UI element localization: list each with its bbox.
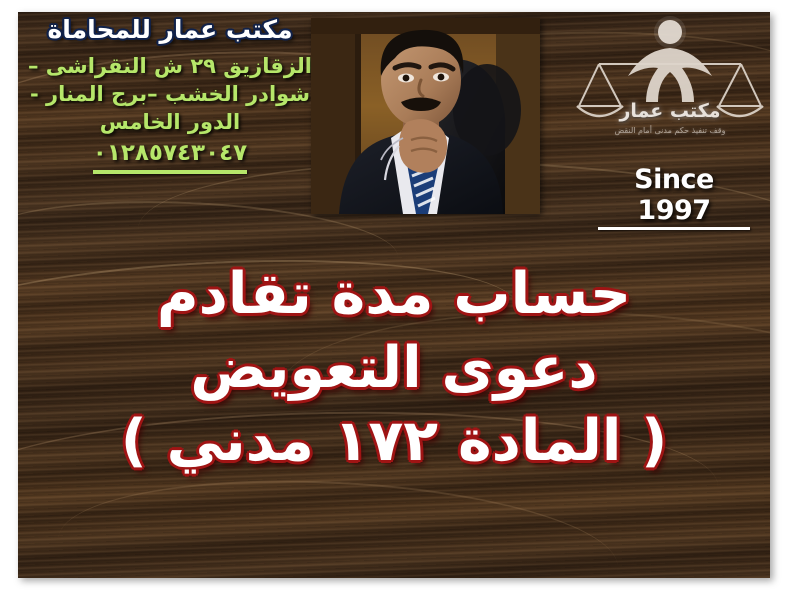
- law-office-logo: مكتب عمار وقف تنفيذ حكم مدنى أمام النقض: [575, 14, 765, 154]
- office-header-block: مكتب عمار للمحاماة الزقازيق ٢٩ ش النقراش…: [22, 16, 318, 174]
- scales-of-justice-icon: [575, 14, 765, 154]
- main-title: حساب مدة تقادم دعوى التعويض ( المادة ١٧٢…: [20, 258, 768, 479]
- since-label: Since 1997: [598, 164, 750, 226]
- office-address: الزقازيق ٢٩ ش النقراشى – شوادر الخشب –بر…: [22, 52, 318, 174]
- address-line-2: شوادر الخشب –برج المنار -: [22, 80, 318, 108]
- phone-number-group[interactable]: ٠١٢٨٥٧٤٣٠٤٧: [93, 138, 247, 174]
- phone-underline: [93, 170, 247, 174]
- banner-image: مكتب عمار للمحاماة الزقازيق ٢٩ ش النقراش…: [0, 0, 800, 600]
- address-line-3: الدور الخامس: [22, 108, 318, 136]
- portrait-illustration: [311, 18, 540, 214]
- lawyer-portrait-photo: [311, 18, 540, 214]
- since-underline: [598, 227, 750, 230]
- title-line-1: حساب مدة تقادم: [20, 258, 768, 332]
- title-line-2: دعوى التعويض: [20, 332, 768, 406]
- title-line-3: ( المادة ١٧٢ مدني ): [20, 405, 768, 479]
- office-name: مكتب عمار للمحاماة: [22, 16, 318, 44]
- address-line-1: الزقازيق ٢٩ ش النقراشى –: [22, 52, 318, 80]
- since-badge: Since 1997: [598, 164, 750, 230]
- wood-grain-streak: [55, 467, 622, 578]
- phone-number[interactable]: ٠١٢٨٥٧٤٣٠٤٧: [93, 138, 247, 169]
